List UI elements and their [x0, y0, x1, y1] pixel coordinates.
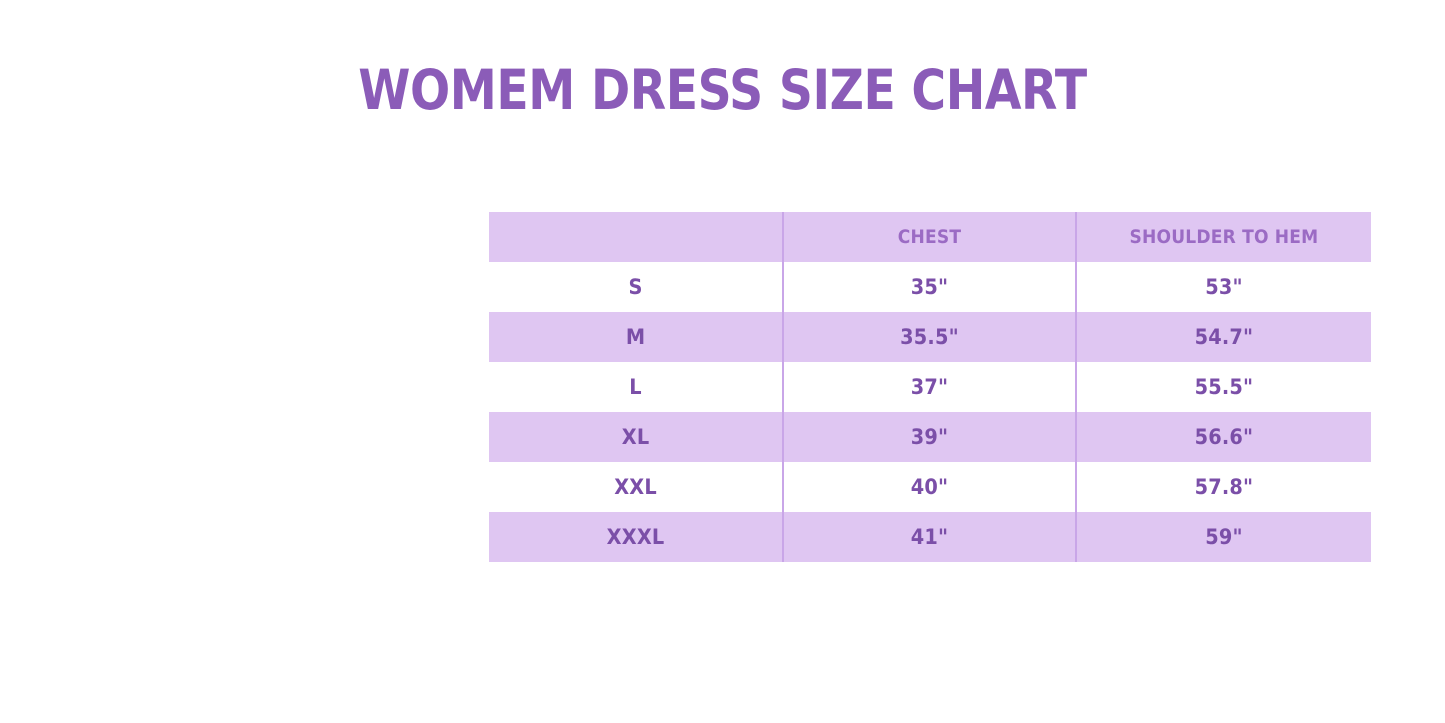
- table-row: XXL 40" 57.8": [489, 462, 1371, 512]
- cell-chest: 39": [795, 412, 1065, 462]
- cell-size: S: [501, 262, 771, 312]
- size-chart-table: CHEST SHOULDER TO HEM S 35" 53" M 35.5" …: [489, 212, 1371, 562]
- table-row: S 35" 53": [489, 262, 1371, 312]
- cell-size: M: [501, 312, 771, 362]
- cell-size: XXXL: [501, 512, 771, 562]
- table-header-row: CHEST SHOULDER TO HEM: [489, 212, 1371, 262]
- cell-chest: 40": [795, 462, 1065, 512]
- cell-hem: 55.5": [1088, 362, 1359, 412]
- cell-hem: 59": [1088, 512, 1359, 562]
- table-row: M 35.5" 54.7": [489, 312, 1371, 362]
- cell-size: XXL: [501, 462, 771, 512]
- column-header-shoulder-to-hem: SHOULDER TO HEM: [1091, 212, 1357, 262]
- column-header-size: [504, 212, 769, 262]
- table-header: CHEST SHOULDER TO HEM: [489, 212, 1371, 262]
- cell-hem: 53": [1088, 262, 1359, 312]
- table-row: XL 39" 56.6": [489, 412, 1371, 462]
- table-row: XXXL 41" 59": [489, 512, 1371, 562]
- table-body: S 35" 53" M 35.5" 54.7" L 37" 55.5" XL 3…: [489, 262, 1371, 562]
- column-header-chest: CHEST: [798, 212, 1062, 262]
- cell-chest: 35.5": [795, 312, 1065, 362]
- cell-hem: 56.6": [1088, 412, 1359, 462]
- table-row: L 37" 55.5": [489, 362, 1371, 412]
- cell-chest: 35": [795, 262, 1065, 312]
- cell-size: L: [501, 362, 771, 412]
- page-title: WOMEM DRESS SIZE CHART: [101, 56, 1344, 124]
- cell-chest: 41": [795, 512, 1065, 562]
- size-chart-page: WOMEM DRESS SIZE CHART CHEST SHOULDER TO…: [0, 0, 1445, 723]
- cell-hem: 54.7": [1088, 312, 1359, 362]
- cell-size: XL: [501, 412, 771, 462]
- cell-chest: 37": [795, 362, 1065, 412]
- cell-hem: 57.8": [1088, 462, 1359, 512]
